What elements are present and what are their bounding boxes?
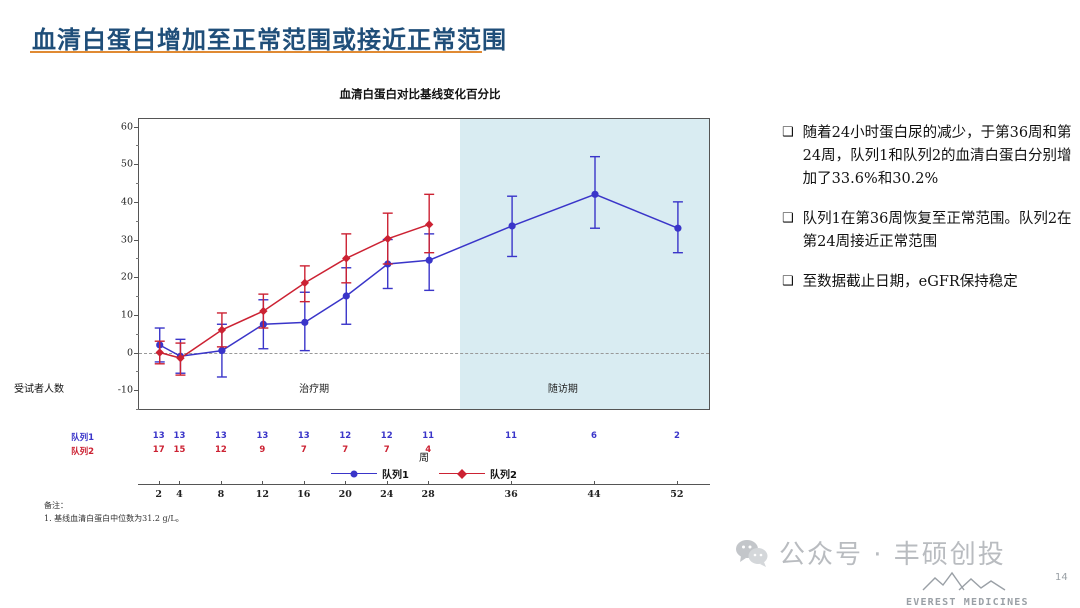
y-tick-mark bbox=[134, 202, 139, 203]
watermark-text: 公众号 · 丰硕创投 bbox=[779, 534, 1006, 571]
risk-count: 13 bbox=[153, 431, 165, 441]
risk-row-label: 队列2 bbox=[71, 445, 94, 457]
x-tick-mark bbox=[179, 481, 180, 485]
legend-line bbox=[439, 473, 485, 474]
chart-legend: 队列1队列2 bbox=[138, 466, 710, 481]
y-tick-minor-mark bbox=[136, 145, 139, 146]
risk-count: 7 bbox=[384, 445, 390, 455]
y-tick-minor-mark bbox=[136, 183, 139, 184]
wechat-watermark: 公众号 · 丰硕创投 bbox=[735, 534, 1006, 571]
x-axis-line bbox=[138, 484, 710, 485]
page-title: 血清白蛋白增加至正常范围或接近正常范围 bbox=[32, 20, 507, 55]
risk-row-label: 队列1 bbox=[71, 431, 94, 443]
x-tick-label: 4 bbox=[176, 489, 183, 500]
chart-container: 血清白蛋白对比基线变化百分比 相对于基线的百分比变化的几何 LS 均值 (%) … bbox=[100, 86, 740, 476]
title-underline-rule bbox=[30, 51, 482, 53]
y-tick-mark bbox=[134, 390, 139, 391]
x-tick-mark bbox=[677, 481, 678, 485]
x-tick-label: 36 bbox=[504, 489, 517, 500]
y-tick-label: 50 bbox=[121, 159, 133, 170]
x-tick-label: 20 bbox=[339, 489, 352, 500]
y-tick-minor-mark bbox=[136, 296, 139, 297]
bullet-list: ❑随着24小时蛋白尿的减少，于第36周和第24周，队列1和队列2的血清白蛋白分别… bbox=[782, 122, 1072, 311]
y-tick-minor-mark bbox=[136, 371, 139, 372]
everest-logo: EVEREST MEDICINES bbox=[906, 570, 1029, 608]
risk-count: 7 bbox=[342, 445, 348, 455]
x-tick-mark bbox=[428, 481, 429, 485]
bullet-item: ❑随着24小时蛋白尿的减少，于第36周和第24周，队列1和队列2的血清白蛋白分别… bbox=[782, 122, 1072, 191]
y-tick-mark bbox=[134, 315, 139, 316]
x-tick-label: 8 bbox=[218, 489, 225, 500]
series-队列2 bbox=[155, 194, 434, 375]
legend-label: 队列1 bbox=[382, 466, 409, 481]
risk-count: 15 bbox=[174, 445, 186, 455]
risk-count: 6 bbox=[591, 431, 597, 441]
risk-count: 11 bbox=[505, 431, 517, 441]
y-tick-label: 20 bbox=[121, 272, 133, 283]
x-tick-mark bbox=[262, 481, 263, 485]
footnote-item: 1. 基线血清白蛋白中位数为31.2 g/L。 bbox=[44, 513, 184, 524]
bullet-item: ❑队列1在第36周恢复至正常范围。队列2在第24周接近正常范围 bbox=[782, 208, 1072, 254]
footnote: 备注： 1. 基线血清白蛋白中位数为31.2 g/L。 bbox=[44, 500, 184, 524]
x-tick-mark bbox=[511, 481, 512, 485]
risk-count: 13 bbox=[215, 431, 227, 441]
legend-item-队列1[interactable]: 队列1 bbox=[331, 466, 409, 481]
y-tick-mark bbox=[134, 164, 139, 165]
y-tick-label: 30 bbox=[121, 234, 133, 245]
y-tick-label: -10 bbox=[118, 385, 133, 396]
y-tick-mark bbox=[134, 277, 139, 278]
x-tick-label: 44 bbox=[587, 489, 600, 500]
y-tick-minor-mark bbox=[136, 409, 139, 410]
y-tick-mark bbox=[134, 127, 139, 128]
brand-name: EVEREST MEDICINES bbox=[906, 597, 1029, 608]
risk-count: 13 bbox=[174, 431, 186, 441]
x-tick-label: 12 bbox=[256, 489, 269, 500]
x-tick-mark bbox=[387, 481, 388, 485]
x-tick-mark bbox=[345, 481, 346, 485]
risk-count: 4 bbox=[425, 445, 431, 455]
series-队列1 bbox=[155, 157, 683, 377]
risk-count: 12 bbox=[339, 431, 351, 441]
bullet-text: 至数据截止日期，eGFR保持稳定 bbox=[803, 271, 1018, 294]
footnote-title: 备注： bbox=[44, 500, 184, 511]
legend-marker-circle bbox=[351, 471, 358, 478]
y-tick-minor-mark bbox=[136, 221, 139, 222]
y-tick-mark bbox=[134, 353, 139, 354]
page-number: 14 bbox=[1055, 572, 1068, 583]
plot-area: -100102030405060 bbox=[138, 118, 710, 410]
risk-count: 7 bbox=[301, 445, 307, 455]
x-tick-label: 24 bbox=[380, 489, 393, 500]
chart-title: 血清白蛋白对比基线变化百分比 bbox=[100, 86, 740, 102]
y-tick-minor-mark bbox=[136, 334, 139, 335]
x-tick-label: 2 bbox=[155, 489, 162, 500]
series-plot bbox=[139, 119, 709, 409]
y-tick-label: 40 bbox=[121, 196, 133, 207]
risk-count: 9 bbox=[259, 445, 265, 455]
bullet-text: 随着24小时蛋白尿的减少，于第36周和第24周，队列1和队列2的血清白蛋白分别增… bbox=[803, 122, 1072, 191]
x-tick-mark bbox=[304, 481, 305, 485]
x-tick-mark bbox=[594, 481, 595, 485]
x-tick-label: 52 bbox=[670, 489, 683, 500]
x-tick-mark bbox=[221, 481, 222, 485]
legend-marker-diamond bbox=[457, 469, 467, 479]
x-tick-mark bbox=[159, 481, 160, 485]
risk-count: 13 bbox=[298, 431, 310, 441]
bullet-item: ❑至数据截止日期，eGFR保持稳定 bbox=[782, 271, 1072, 294]
y-tick-minor-mark bbox=[136, 258, 139, 259]
risk-table-title: 受试者人数 bbox=[14, 380, 64, 395]
x-tick-label: 28 bbox=[422, 489, 435, 500]
bullet-square-icon: ❑ bbox=[782, 208, 794, 254]
mountain-icon bbox=[919, 570, 1015, 592]
y-tick-mark bbox=[134, 240, 139, 241]
y-tick-label: 0 bbox=[127, 347, 133, 358]
wechat-icon bbox=[735, 539, 769, 567]
risk-count: 17 bbox=[153, 445, 165, 455]
x-tick-label: 16 bbox=[297, 489, 310, 500]
legend-line bbox=[331, 473, 377, 474]
legend-label: 队列2 bbox=[490, 466, 517, 481]
risk-count: 12 bbox=[381, 431, 393, 441]
y-tick-label: 60 bbox=[121, 121, 133, 132]
risk-count: 11 bbox=[422, 431, 434, 441]
bullet-square-icon: ❑ bbox=[782, 122, 794, 191]
plot-annotation: 治疗期 bbox=[299, 380, 329, 395]
y-tick-label: 10 bbox=[121, 309, 133, 320]
risk-count: 2 bbox=[674, 431, 680, 441]
bullet-text: 队列1在第36周恢复至正常范围。队列2在第24周接近正常范围 bbox=[803, 208, 1072, 254]
bullet-square-icon: ❑ bbox=[782, 271, 794, 294]
legend-item-队列2[interactable]: 队列2 bbox=[439, 466, 517, 481]
plot-annotation: 随访期 bbox=[548, 380, 578, 395]
risk-count: 13 bbox=[256, 431, 268, 441]
risk-count: 12 bbox=[215, 445, 227, 455]
